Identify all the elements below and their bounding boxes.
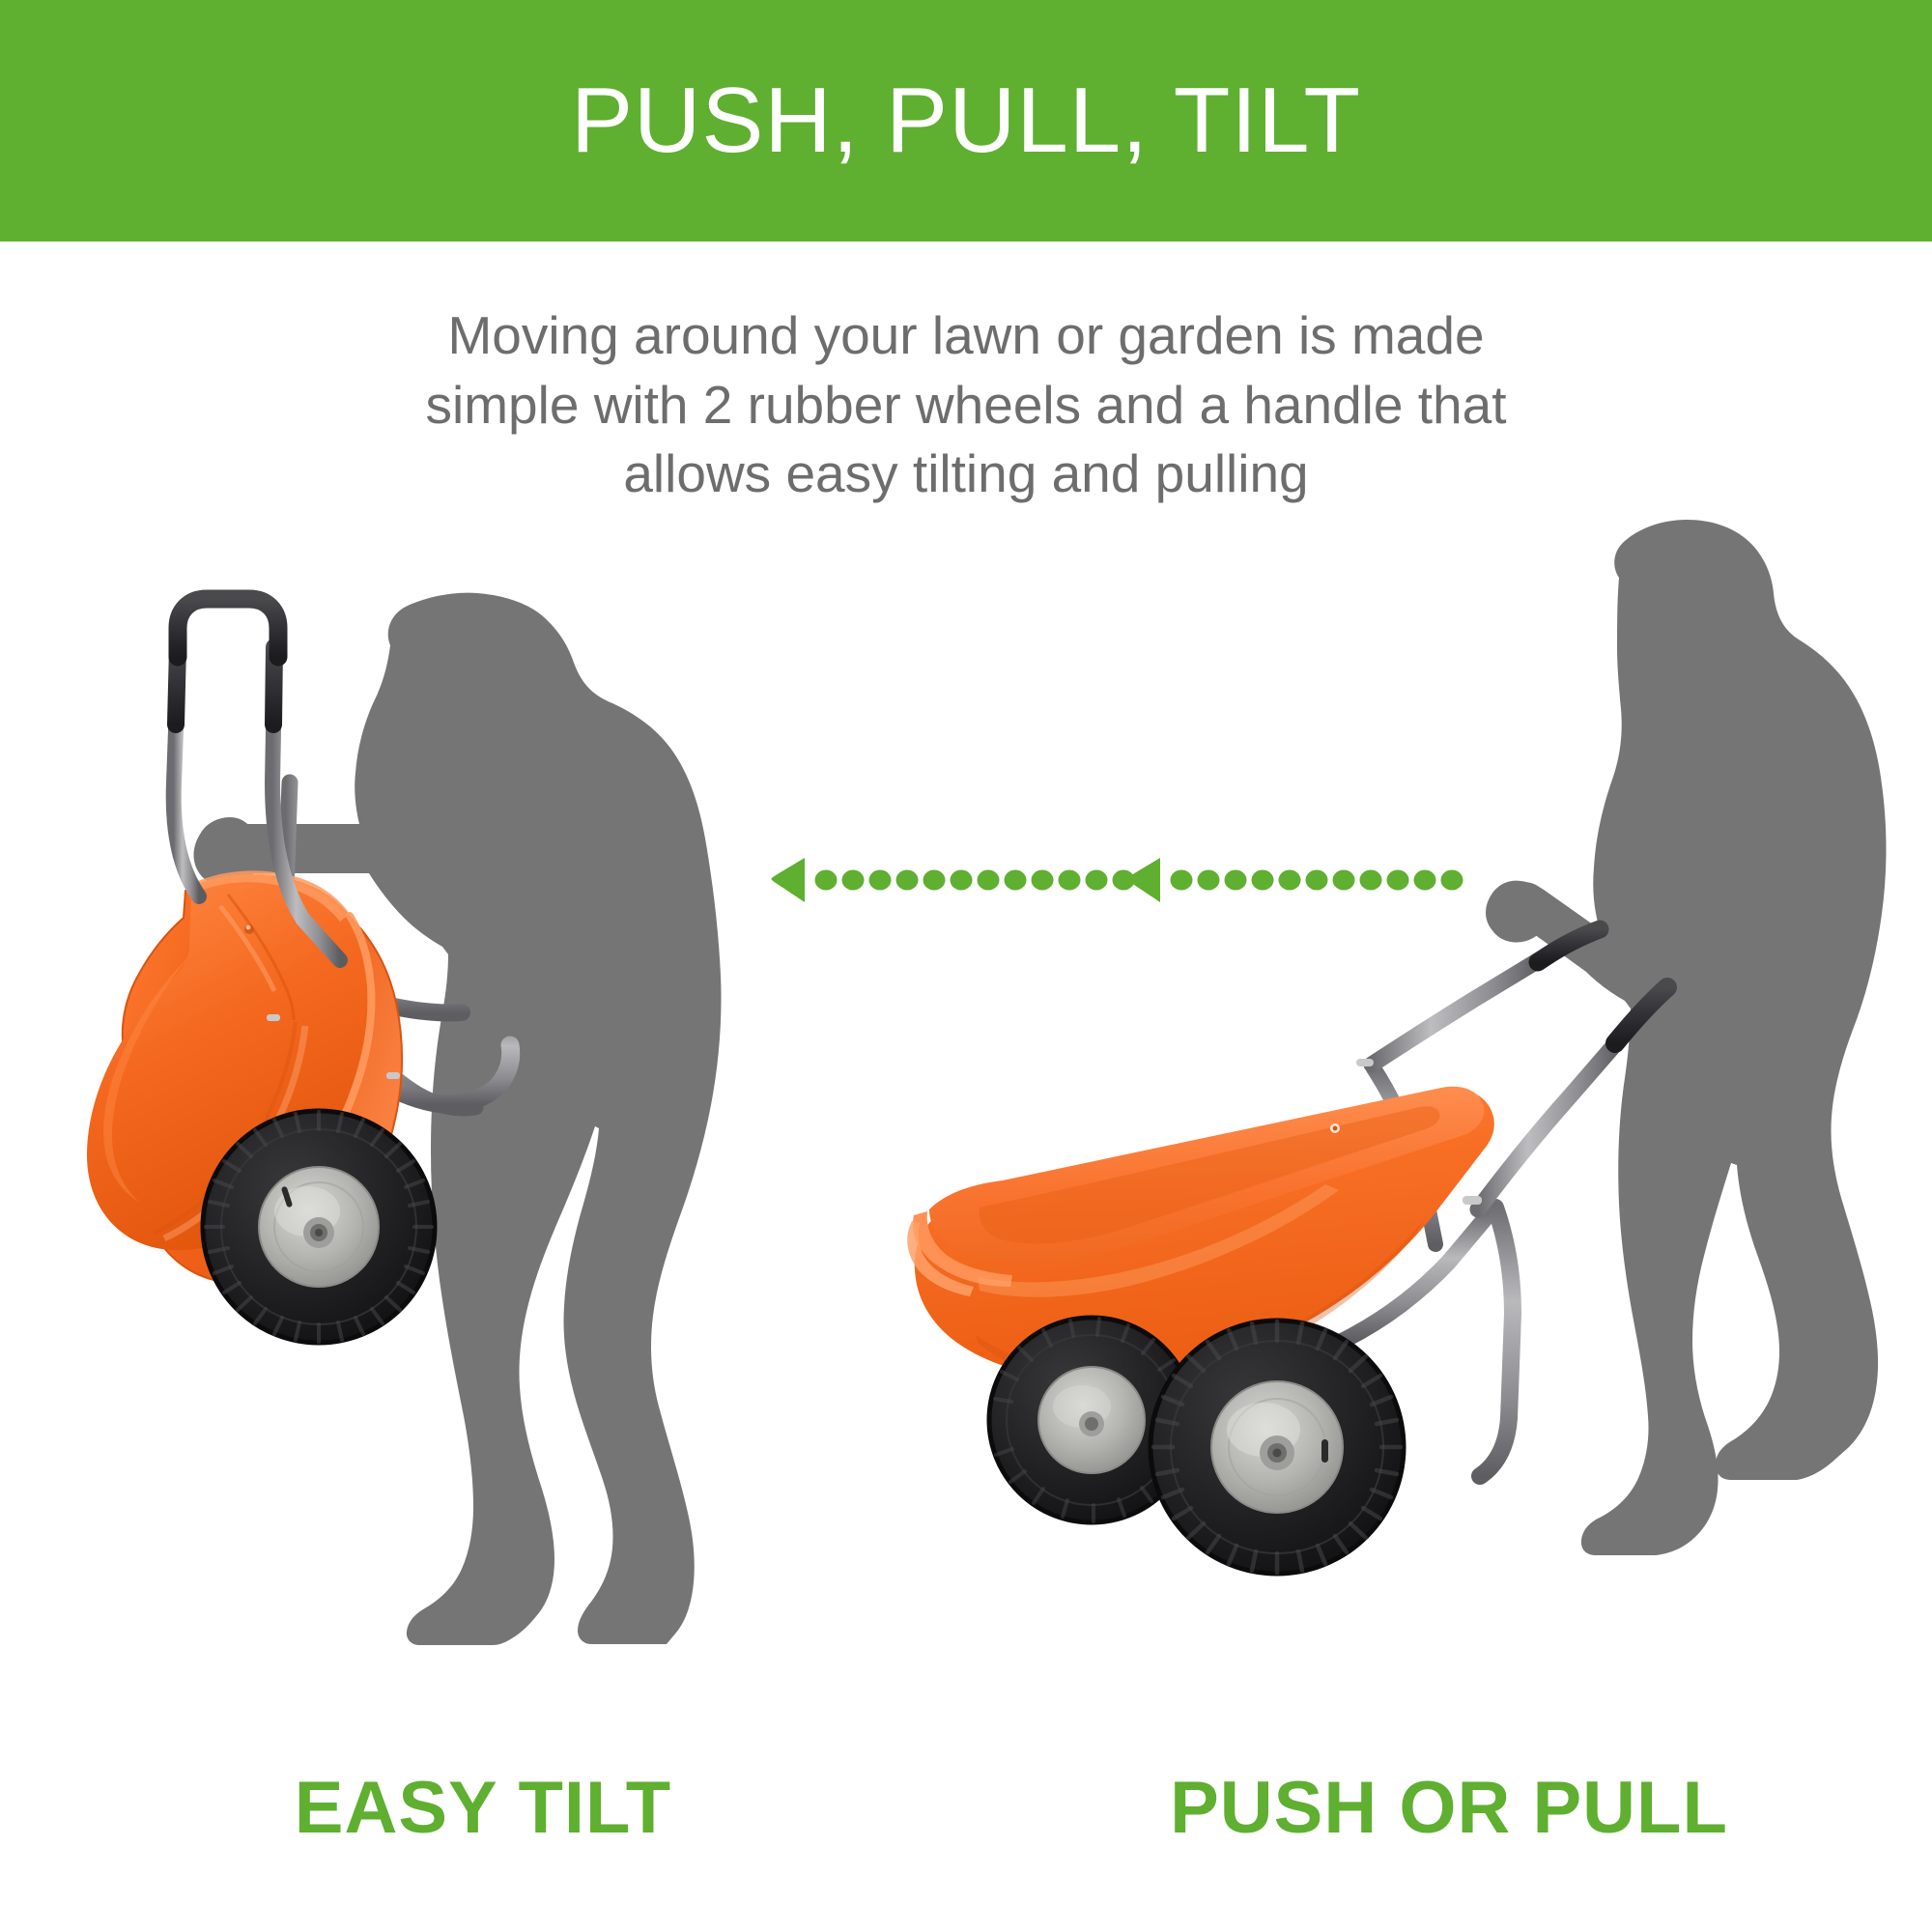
wheel-tilted [203, 1111, 435, 1343]
tray-upright [907, 1087, 1494, 1386]
illustration-scene [0, 241, 1932, 1748]
infographic-page: PUSH, PULL, TILT Moving around your lawn… [0, 0, 1932, 1932]
product-wheelbarrow-upright [907, 929, 1667, 1574]
direction-arrows [768, 850, 1473, 910]
arrow-head-2 [1127, 858, 1161, 902]
silhouette-figure-pulling [1486, 520, 1887, 1555]
frame-tube-handle-lower [1372, 958, 1542, 1065]
page-title: PUSH, PULL, TILT [552, 74, 1380, 167]
arrow-head-1 [772, 858, 806, 902]
header-band: PUSH, PULL, TILT [0, 0, 1932, 241]
frame-tube-handle-upper [1478, 1037, 1621, 1209]
caption-easy-tilt: EASY TILT [0, 1766, 966, 1850]
wheel-near [1151, 1321, 1404, 1574]
caption-push-or-pull: PUSH OR PULL [966, 1766, 1932, 1850]
frame-tube-rear-leg [1480, 1207, 1513, 1476]
handle-bar-u [178, 599, 278, 657]
